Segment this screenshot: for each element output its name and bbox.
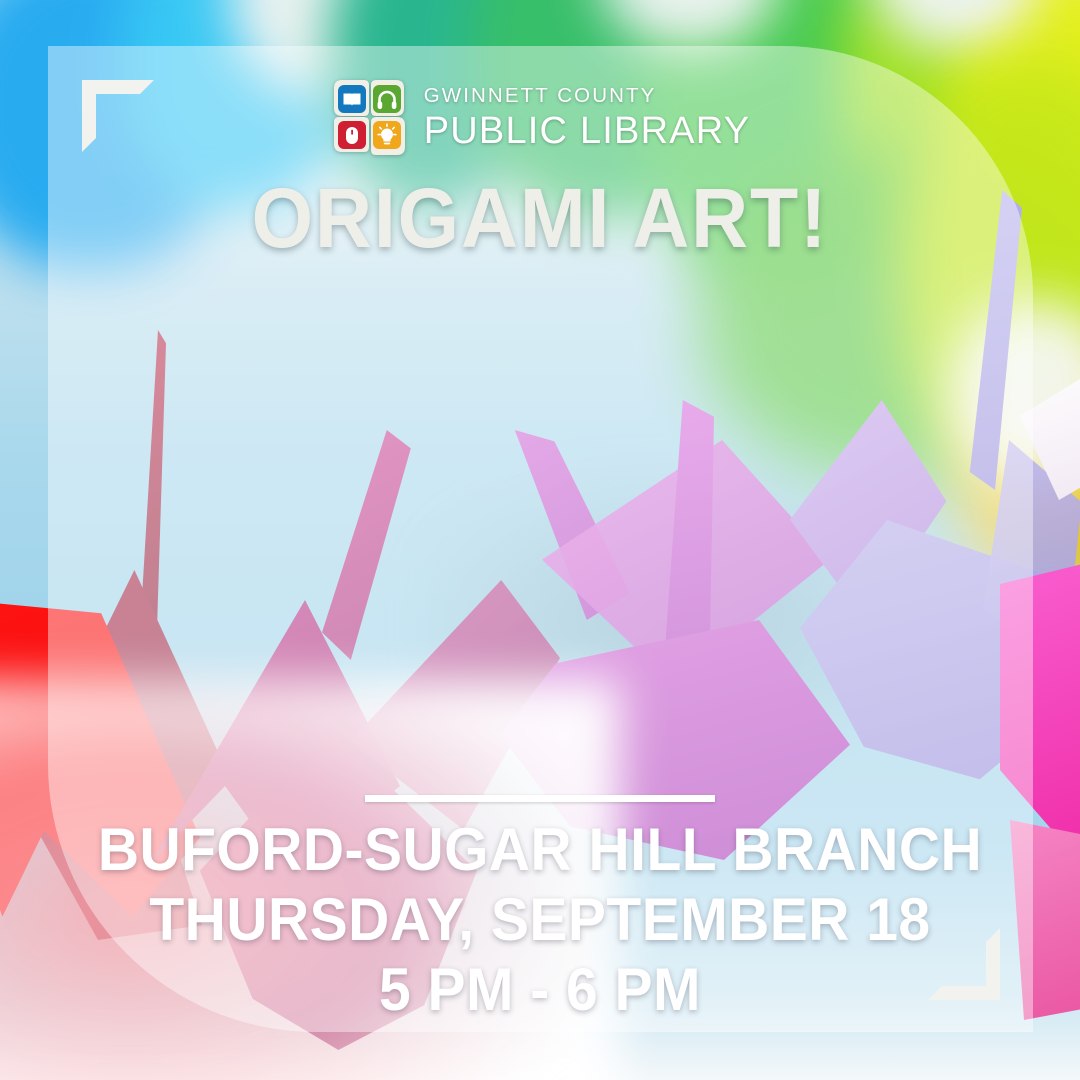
- logo-line-county: GWINNETT COUNTY: [424, 86, 751, 107]
- divider-rule: [365, 795, 715, 802]
- library-logo-wordmark: GWINNETT COUNTY PUBLIC LIBRARY: [424, 86, 751, 151]
- computer-mouse-icon: [346, 127, 358, 144]
- event-time: 5 PM - 6 PM: [27, 958, 1053, 1022]
- event-branch: BUFORD-SUGAR HILL BRANCH: [27, 818, 1053, 882]
- logo-line-library: PUBLIC LIBRARY: [424, 112, 751, 150]
- poster-content: GWINNETT COUNTY PUBLIC LIBRARY ORIGAMI A…: [0, 0, 1080, 1080]
- open-book-icon: [343, 94, 360, 106]
- poster-canvas: GWINNETT COUNTY PUBLIC LIBRARY ORIGAMI A…: [0, 0, 1080, 1080]
- event-date: THURSDAY, SEPTEMBER 18: [27, 888, 1053, 952]
- page-title: ORIGAMI ART!: [32, 176, 1047, 260]
- library-logo-lockup: GWINNETT COUNTY PUBLIC LIBRARY: [0, 78, 1080, 158]
- logo-tile-green: [373, 85, 401, 113]
- library-logo-mark: [330, 78, 408, 158]
- event-details: BUFORD-SUGAR HILL BRANCH THURSDAY, SEPTE…: [0, 818, 1080, 1023]
